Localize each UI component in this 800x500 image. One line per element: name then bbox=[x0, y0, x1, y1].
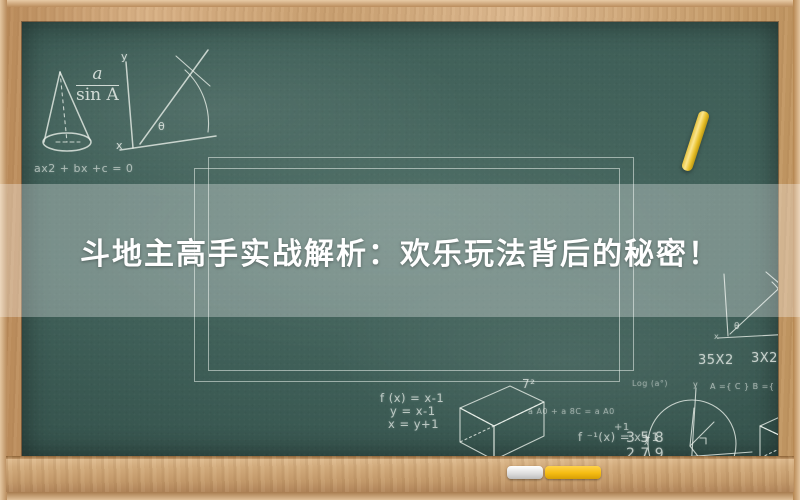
ledge-grain-texture bbox=[6, 456, 794, 492]
yellow-chalk-stick bbox=[545, 466, 601, 479]
page-title: 斗地主高手实战解析：欢乐玩法背后的秘密！ bbox=[0, 184, 800, 317]
chalk-ledge bbox=[6, 456, 794, 492]
frame-bevel-top bbox=[0, 0, 800, 7]
white-chalk-stick bbox=[507, 466, 543, 479]
chalkboard-banner-image: a sin A y x θ ax2 + bx +c = 0 f (x) = x-… bbox=[0, 0, 800, 500]
frame-bevel-bottom bbox=[0, 492, 800, 500]
